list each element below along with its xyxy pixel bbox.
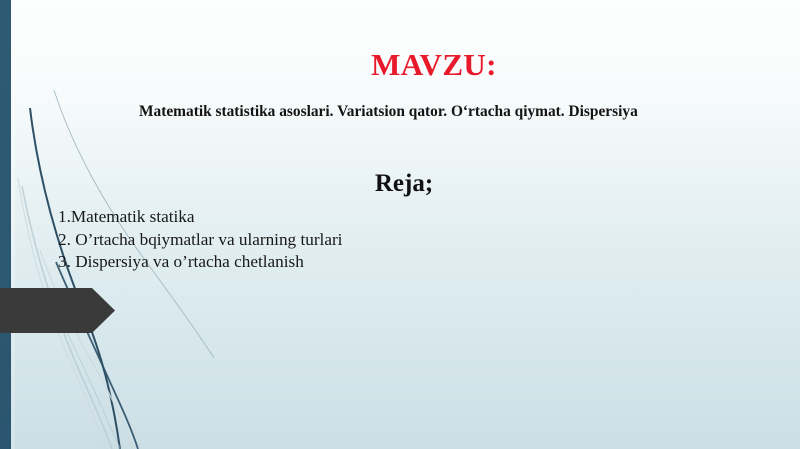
list-item: 1.Matematik statika: [58, 206, 618, 229]
section-heading: Reja;: [0, 170, 800, 199]
presentation-slide: MAVZU: Matematik statistika asoslari. Va…: [0, 0, 800, 449]
list-item: 2. O’rtacha bqiymatlar va ularning turla…: [58, 229, 618, 252]
plan-list: 1.Matematik statika 2. O’rtacha bqiymatl…: [58, 206, 618, 274]
list-item: 3. Dispersiya va o’rtacha chetlanish: [58, 251, 618, 274]
arrow-banner-shape: [0, 288, 115, 333]
slide-subtitle: Matematik statistika asoslari. Variatsio…: [139, 101, 644, 123]
page-title: MAVZU:: [0, 47, 800, 83]
